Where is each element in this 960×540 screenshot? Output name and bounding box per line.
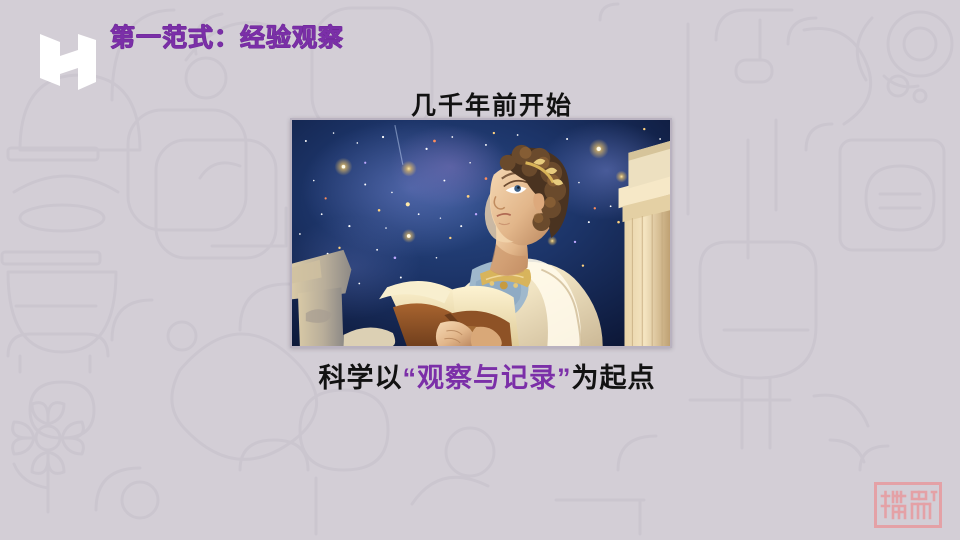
page-title: 第一范式：经验观察 — [110, 18, 344, 54]
ancient-astronomer-starry-sky-illustration — [290, 118, 672, 348]
presentation-slide: 第一范式：经验观察 几千年前开始 — [0, 0, 960, 540]
caption-top-text: 几千年前开始 — [0, 86, 960, 122]
caption-bottom-highlight: “观察与记录” — [403, 363, 572, 393]
brand-h-logo-icon — [38, 28, 100, 92]
caption-bottom-prefix: 科学以 — [319, 363, 403, 393]
caption-bottom-text: 科学以“观察与记录”为起点 — [0, 356, 960, 395]
caption-bottom-suffix: 为起点 — [572, 363, 656, 393]
red-seal-stamp-icon — [874, 482, 942, 528]
